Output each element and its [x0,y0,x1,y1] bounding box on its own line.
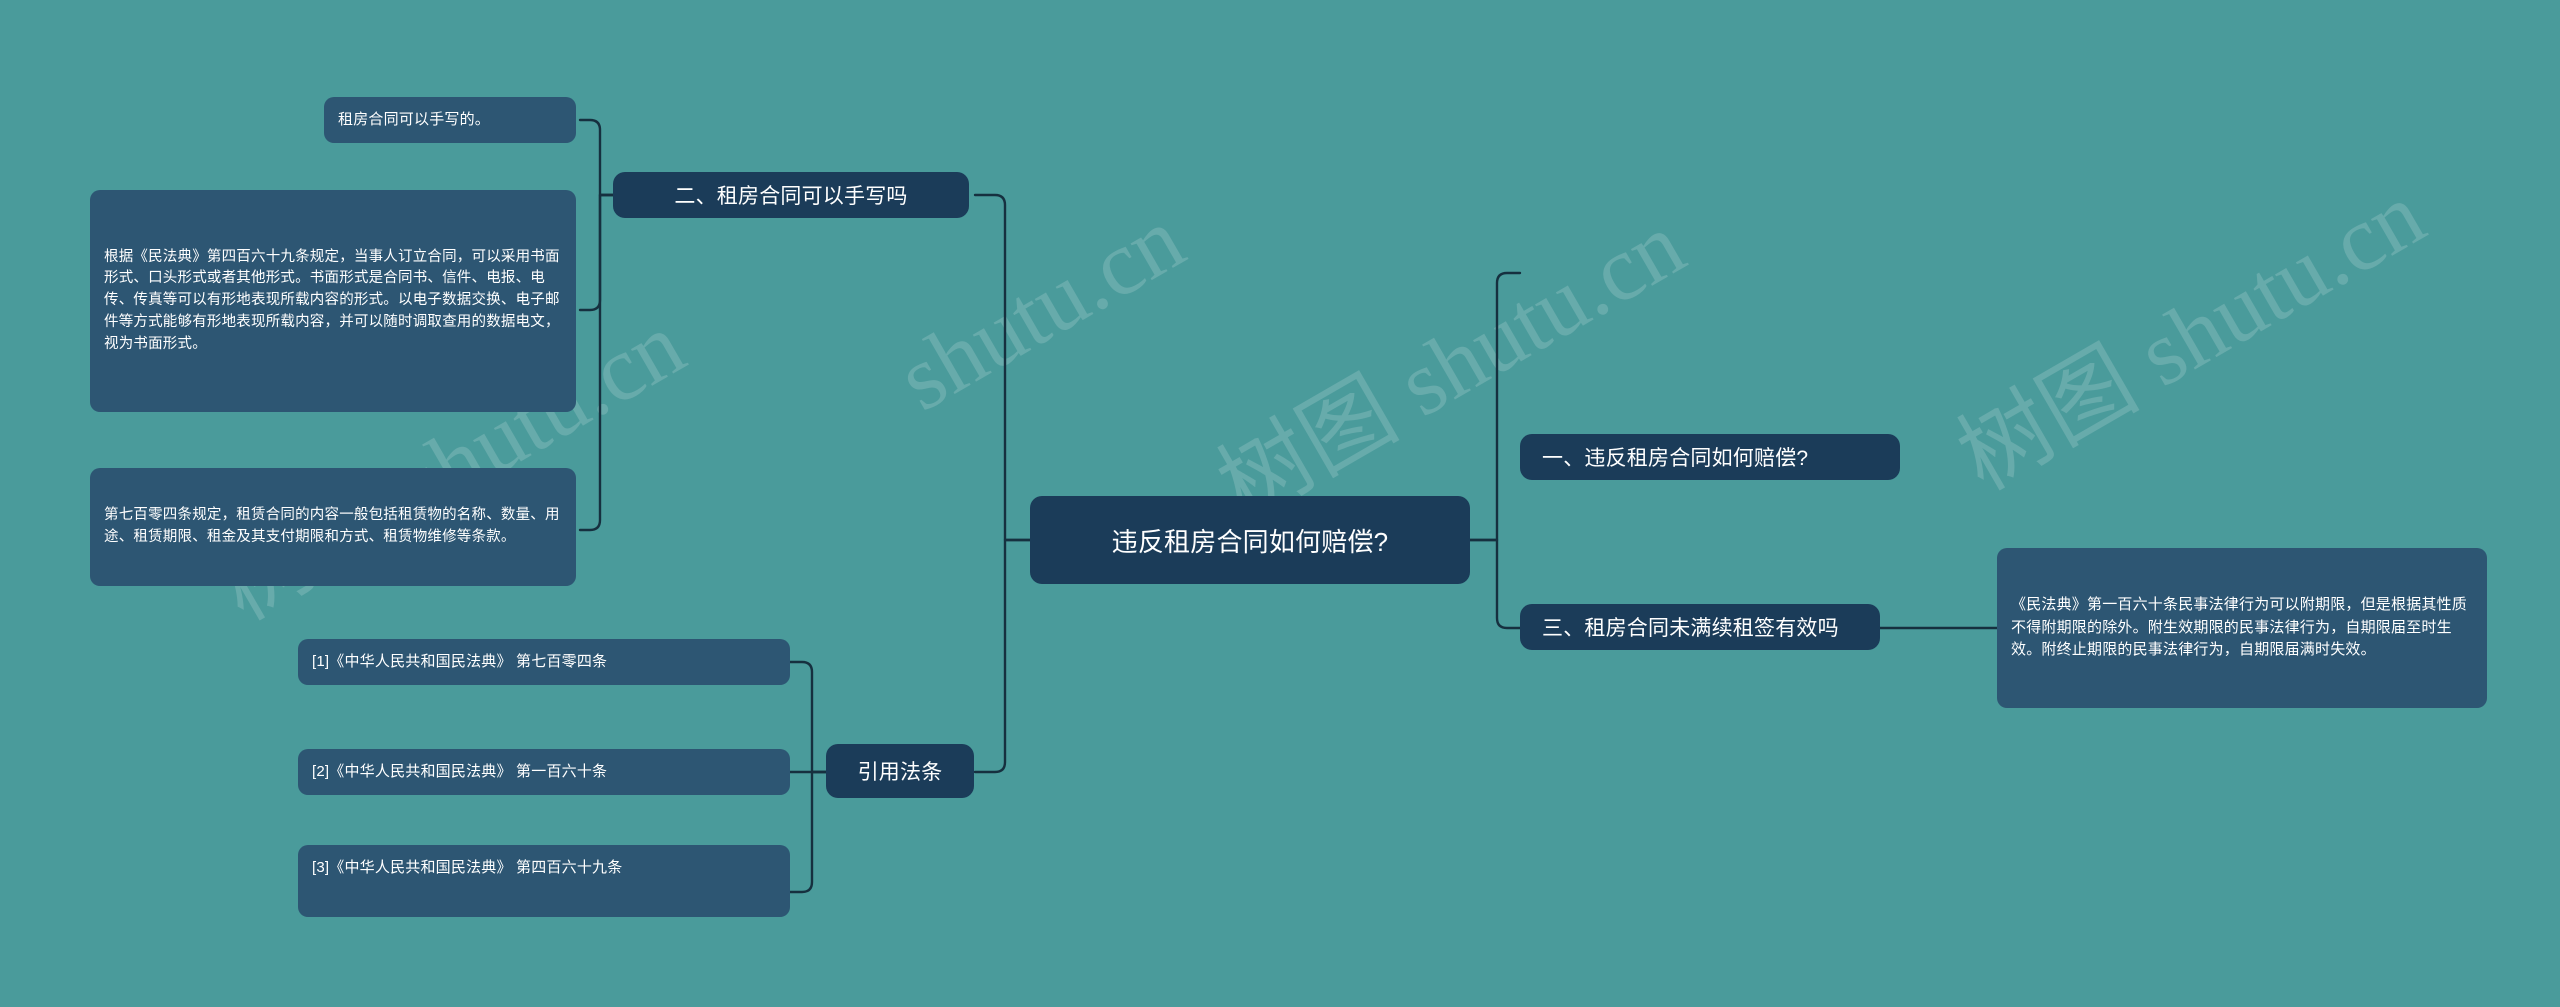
citation-node-3[interactable]: [3]《中华人民共和国民法典》 第四百六十九条 [298,845,790,917]
root-node[interactable]: 违反租房合同如何赔偿? [1030,496,1470,584]
topic-node-right-3-label: 三、租房合同未满续租签有效吗 [1542,612,1858,642]
detail-node-right-3-1-label: 《民法典》第一百六十条民事法律行为可以附期限，但是根据其性质不得附期限的除外。附… [2011,594,2473,662]
edge-root-to-right-1 [1470,273,1520,540]
topic-node-left-2-label: 二、租房合同可以手写吗 [635,180,947,210]
edge-left2-to-child-1 [580,120,613,195]
topic-node-right-3[interactable]: 三、租房合同未满续租签有效吗 [1520,604,1880,650]
edge-root-to-right-3 [1470,540,1520,628]
citation-node-2[interactable]: [2]《中华人民共和国民法典》 第一百六十条 [298,749,790,795]
detail-node-left-2-1-label: 租房合同可以手写的。 [338,109,562,132]
watermark-text: shutu.cn [880,185,1201,431]
watermark-text: 树图 shutu.cn [1930,142,2444,515]
edge-cite-to-ref-3 [790,772,826,892]
topic-node-left-2[interactable]: 二、租房合同可以手写吗 [613,172,969,218]
citation-node-3-label: [3]《中华人民共和国民法典》 第四百六十九条 [312,857,776,880]
edge-left2-to-child-2 [580,195,613,310]
detail-node-left-2-3[interactable]: 第七百零四条规定，租赁合同的内容一般包括租赁物的名称、数量、用途、租赁期限、租金… [90,468,576,586]
topic-node-right-1[interactable]: 一、违反租房合同如何赔偿? [1520,434,1900,480]
edge-root-to-left-2 [975,195,1030,540]
edge-left2-to-child-3 [580,195,613,530]
watermark-text: 树图 shutu.cn [1190,172,1704,545]
topic-node-right-1-label: 一、违反租房合同如何赔偿? [1542,442,1878,472]
topic-node-citations-label: 引用法条 [848,756,952,786]
citation-node-1-label: [1]《中华人民共和国民法典》 第七百零四条 [312,651,776,674]
citation-node-2-label: [2]《中华人民共和国民法典》 第一百六十条 [312,761,776,784]
topic-node-citations[interactable]: 引用法条 [826,744,974,798]
detail-node-left-2-2-label: 根据《民法典》第四百六十九条规定，当事人订立合同，可以采用书面形式、口头形式或者… [104,247,562,356]
detail-node-left-2-2[interactable]: 根据《民法典》第四百六十九条规定，当事人订立合同，可以采用书面形式、口头形式或者… [90,190,576,412]
root-node-label: 违反租房合同如何赔偿? [1056,522,1444,559]
detail-node-left-2-3-label: 第七百零四条规定，租赁合同的内容一般包括租赁物的名称、数量、用途、租赁期限、租金… [104,505,562,549]
mindmap-canvas: 树图 shutu.cn 树图 shutu.cn 树图 shutu.cn shut… [0,0,2560,1007]
edge-cite-to-ref-1 [790,662,826,772]
detail-node-left-2-1[interactable]: 租房合同可以手写的。 [324,97,576,143]
detail-node-right-3-1[interactable]: 《民法典》第一百六十条民事法律行为可以附期限，但是根据其性质不得附期限的除外。附… [1997,548,2487,708]
citation-node-1[interactable]: [1]《中华人民共和国民法典》 第七百零四条 [298,639,790,685]
edge-root-to-left-cite [975,540,1030,772]
